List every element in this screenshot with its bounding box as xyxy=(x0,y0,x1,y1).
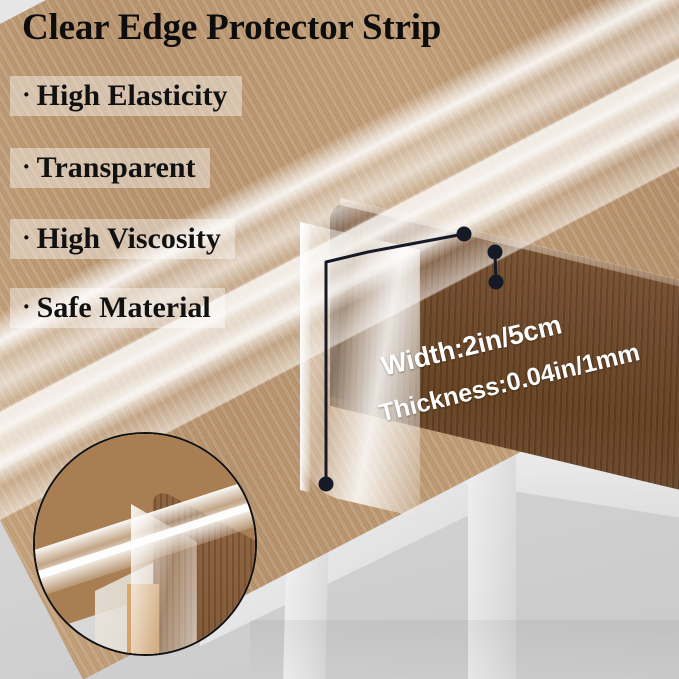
corner-detail-inset xyxy=(33,432,257,656)
product-image: Clear Edge Protector Strip ·High Elastic… xyxy=(0,0,679,679)
feature-bullet-3: ·Safe Material xyxy=(10,288,225,328)
feature-bullet-0: ·High Elasticity xyxy=(10,76,242,116)
clear-strip-corner-highlight xyxy=(300,222,310,492)
bullet-dot-icon: · xyxy=(22,292,31,321)
feature-bullet-1: ·Transparent xyxy=(10,148,210,188)
feature-label-1: Transparent xyxy=(37,151,196,184)
bullet-dot-icon: · xyxy=(22,223,31,252)
page-title: Clear Edge Protector Strip xyxy=(22,6,441,49)
feature-bullet-2: ·High Viscosity xyxy=(10,219,235,259)
bullet-dot-icon: · xyxy=(22,152,31,181)
feature-label-0: High Elasticity xyxy=(37,79,228,112)
bullet-dot-icon: · xyxy=(22,80,31,109)
feature-label-2: High Viscosity xyxy=(37,222,221,255)
feature-label-3: Safe Material xyxy=(37,291,211,324)
